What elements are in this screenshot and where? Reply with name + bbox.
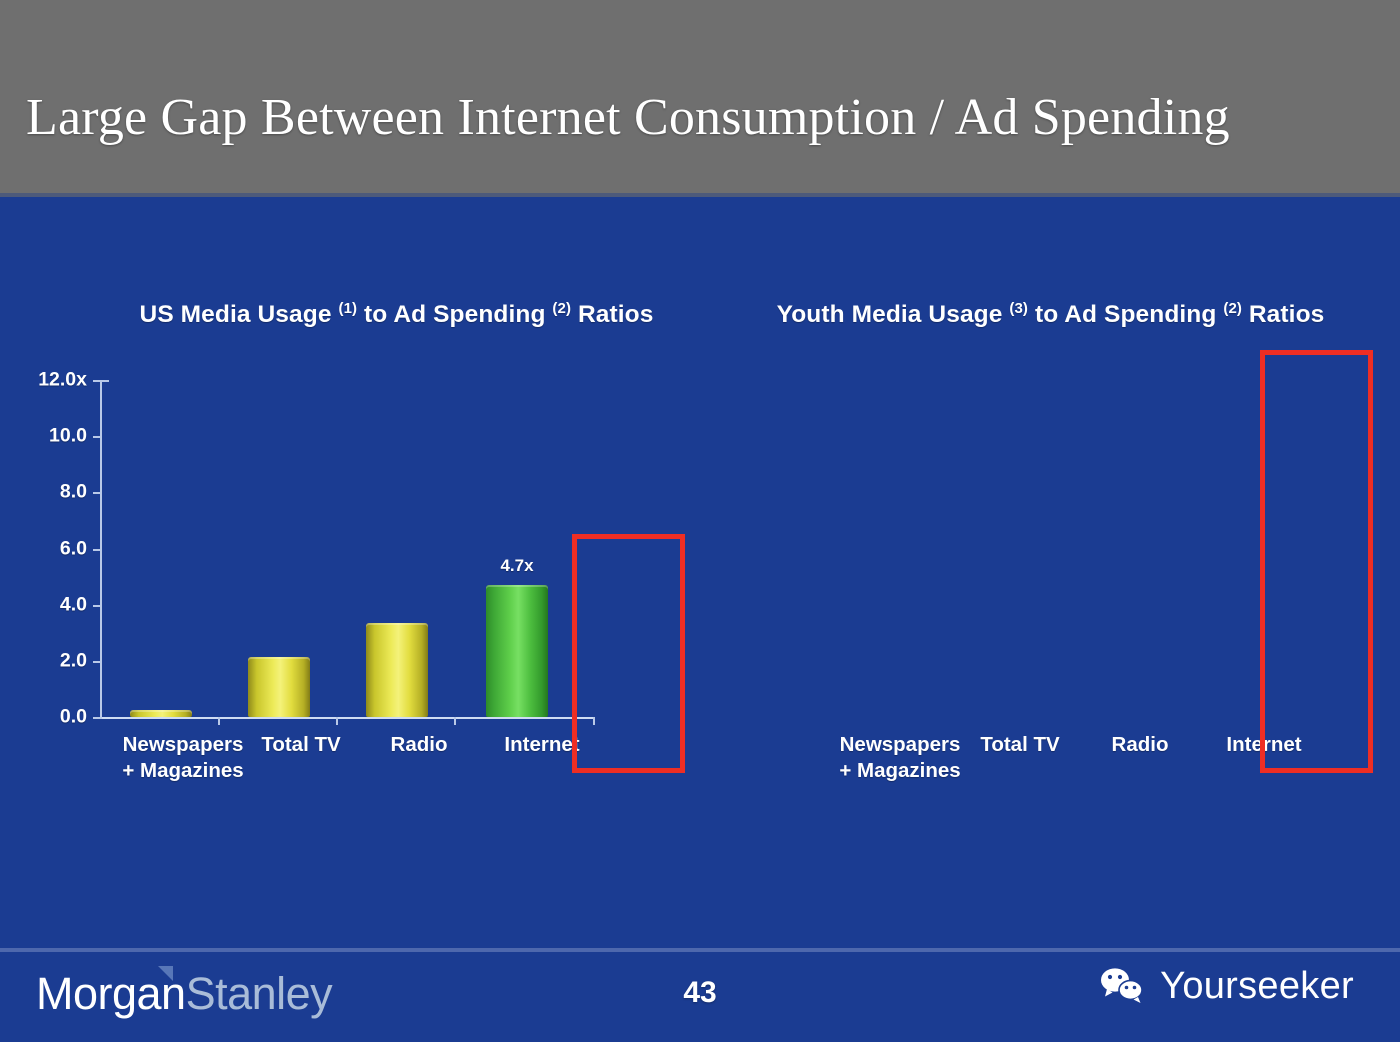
chart-title-text-1: US Media Usage (140, 301, 339, 328)
x-tick-mark (336, 717, 338, 725)
category-label-internet: Internet (467, 732, 617, 758)
chart-panel-youth-media-usage: Youth Media Usage (3) to Ad Spending (2)… (715, 201, 1400, 801)
footnote-ref-3: (3) (1009, 300, 1028, 317)
y-tick-label: 10.0 (49, 425, 87, 448)
y-tick-label: 2.0 (60, 649, 87, 672)
chart-title-text-3: Ratios (571, 301, 653, 328)
x-tick-mark (454, 717, 456, 725)
y-tick-mark (93, 605, 102, 607)
category-label-internet: Internet (1189, 732, 1339, 758)
y-tick-mark (93, 380, 102, 382)
x-tick-mark (218, 717, 220, 725)
brand-name: Yourseeker (1160, 964, 1354, 1008)
y-tick-label: 8.0 (60, 481, 87, 504)
page-title: Large Gap Between Internet Consumption /… (26, 88, 1386, 147)
y-tick-mark (93, 717, 102, 719)
plot-area-us-media-usage: 12.0x 10.0 8.0 6.0 4.0 2.0 0.0 4.7x (100, 380, 595, 717)
y-tick-mark (93, 436, 102, 438)
y-tick-label: 0.0 (60, 706, 87, 729)
brand-watermark: Yourseeker (1098, 964, 1354, 1008)
y-tick-label: 4.0 (60, 593, 87, 616)
bar-newspapers-magazines[interactable] (130, 710, 192, 717)
slide-header: Large Gap Between Internet Consumption /… (0, 0, 1400, 197)
y-tick-mark (93, 661, 102, 663)
y-tick-label: 6.0 (60, 537, 87, 560)
slide-footer: MorganStanley 43 Yourseeker (0, 952, 1400, 1042)
footnote-ref-1: (1) (338, 300, 357, 317)
chart-title-us-media-usage: US Media Usage (1) to Ad Spending (2) Ra… (0, 291, 715, 333)
bar-internet[interactable]: 4.7x (486, 585, 548, 717)
y-tick-label: 12.0x (38, 369, 87, 392)
footnote-ref-2: (2) (1223, 300, 1242, 317)
chart-title-text-1: Youth Media Usage (777, 301, 1010, 328)
slide: Large Gap Between Internet Consumption /… (0, 0, 1400, 1042)
y-tick-mark (93, 492, 102, 494)
chart-title-text-2: to Ad Spending (1028, 301, 1223, 328)
highlight-box-internet (1260, 350, 1373, 773)
wechat-icon (1098, 966, 1146, 1006)
x-tick-mark (593, 717, 595, 725)
slide-body: US Media Usage (1) to Ad Spending (2) Ra… (0, 201, 1400, 1042)
footnote-ref-2: (2) (552, 300, 571, 317)
bar-radio[interactable] (366, 623, 428, 717)
chart-title-youth-media-usage: Youth Media Usage (3) to Ad Spending (2)… (715, 291, 1400, 333)
x-axis-baseline (100, 717, 595, 719)
chart-title-text-2: to Ad Spending (357, 301, 552, 328)
bar-total-tv[interactable] (248, 657, 310, 717)
chart-title-text-3: Ratios (1242, 301, 1324, 328)
bar-value-internet: 4.7x (500, 556, 533, 576)
y-tick-mark (93, 549, 102, 551)
chart-panel-us-media-usage: US Media Usage (1) to Ad Spending (2) Ra… (0, 201, 715, 801)
